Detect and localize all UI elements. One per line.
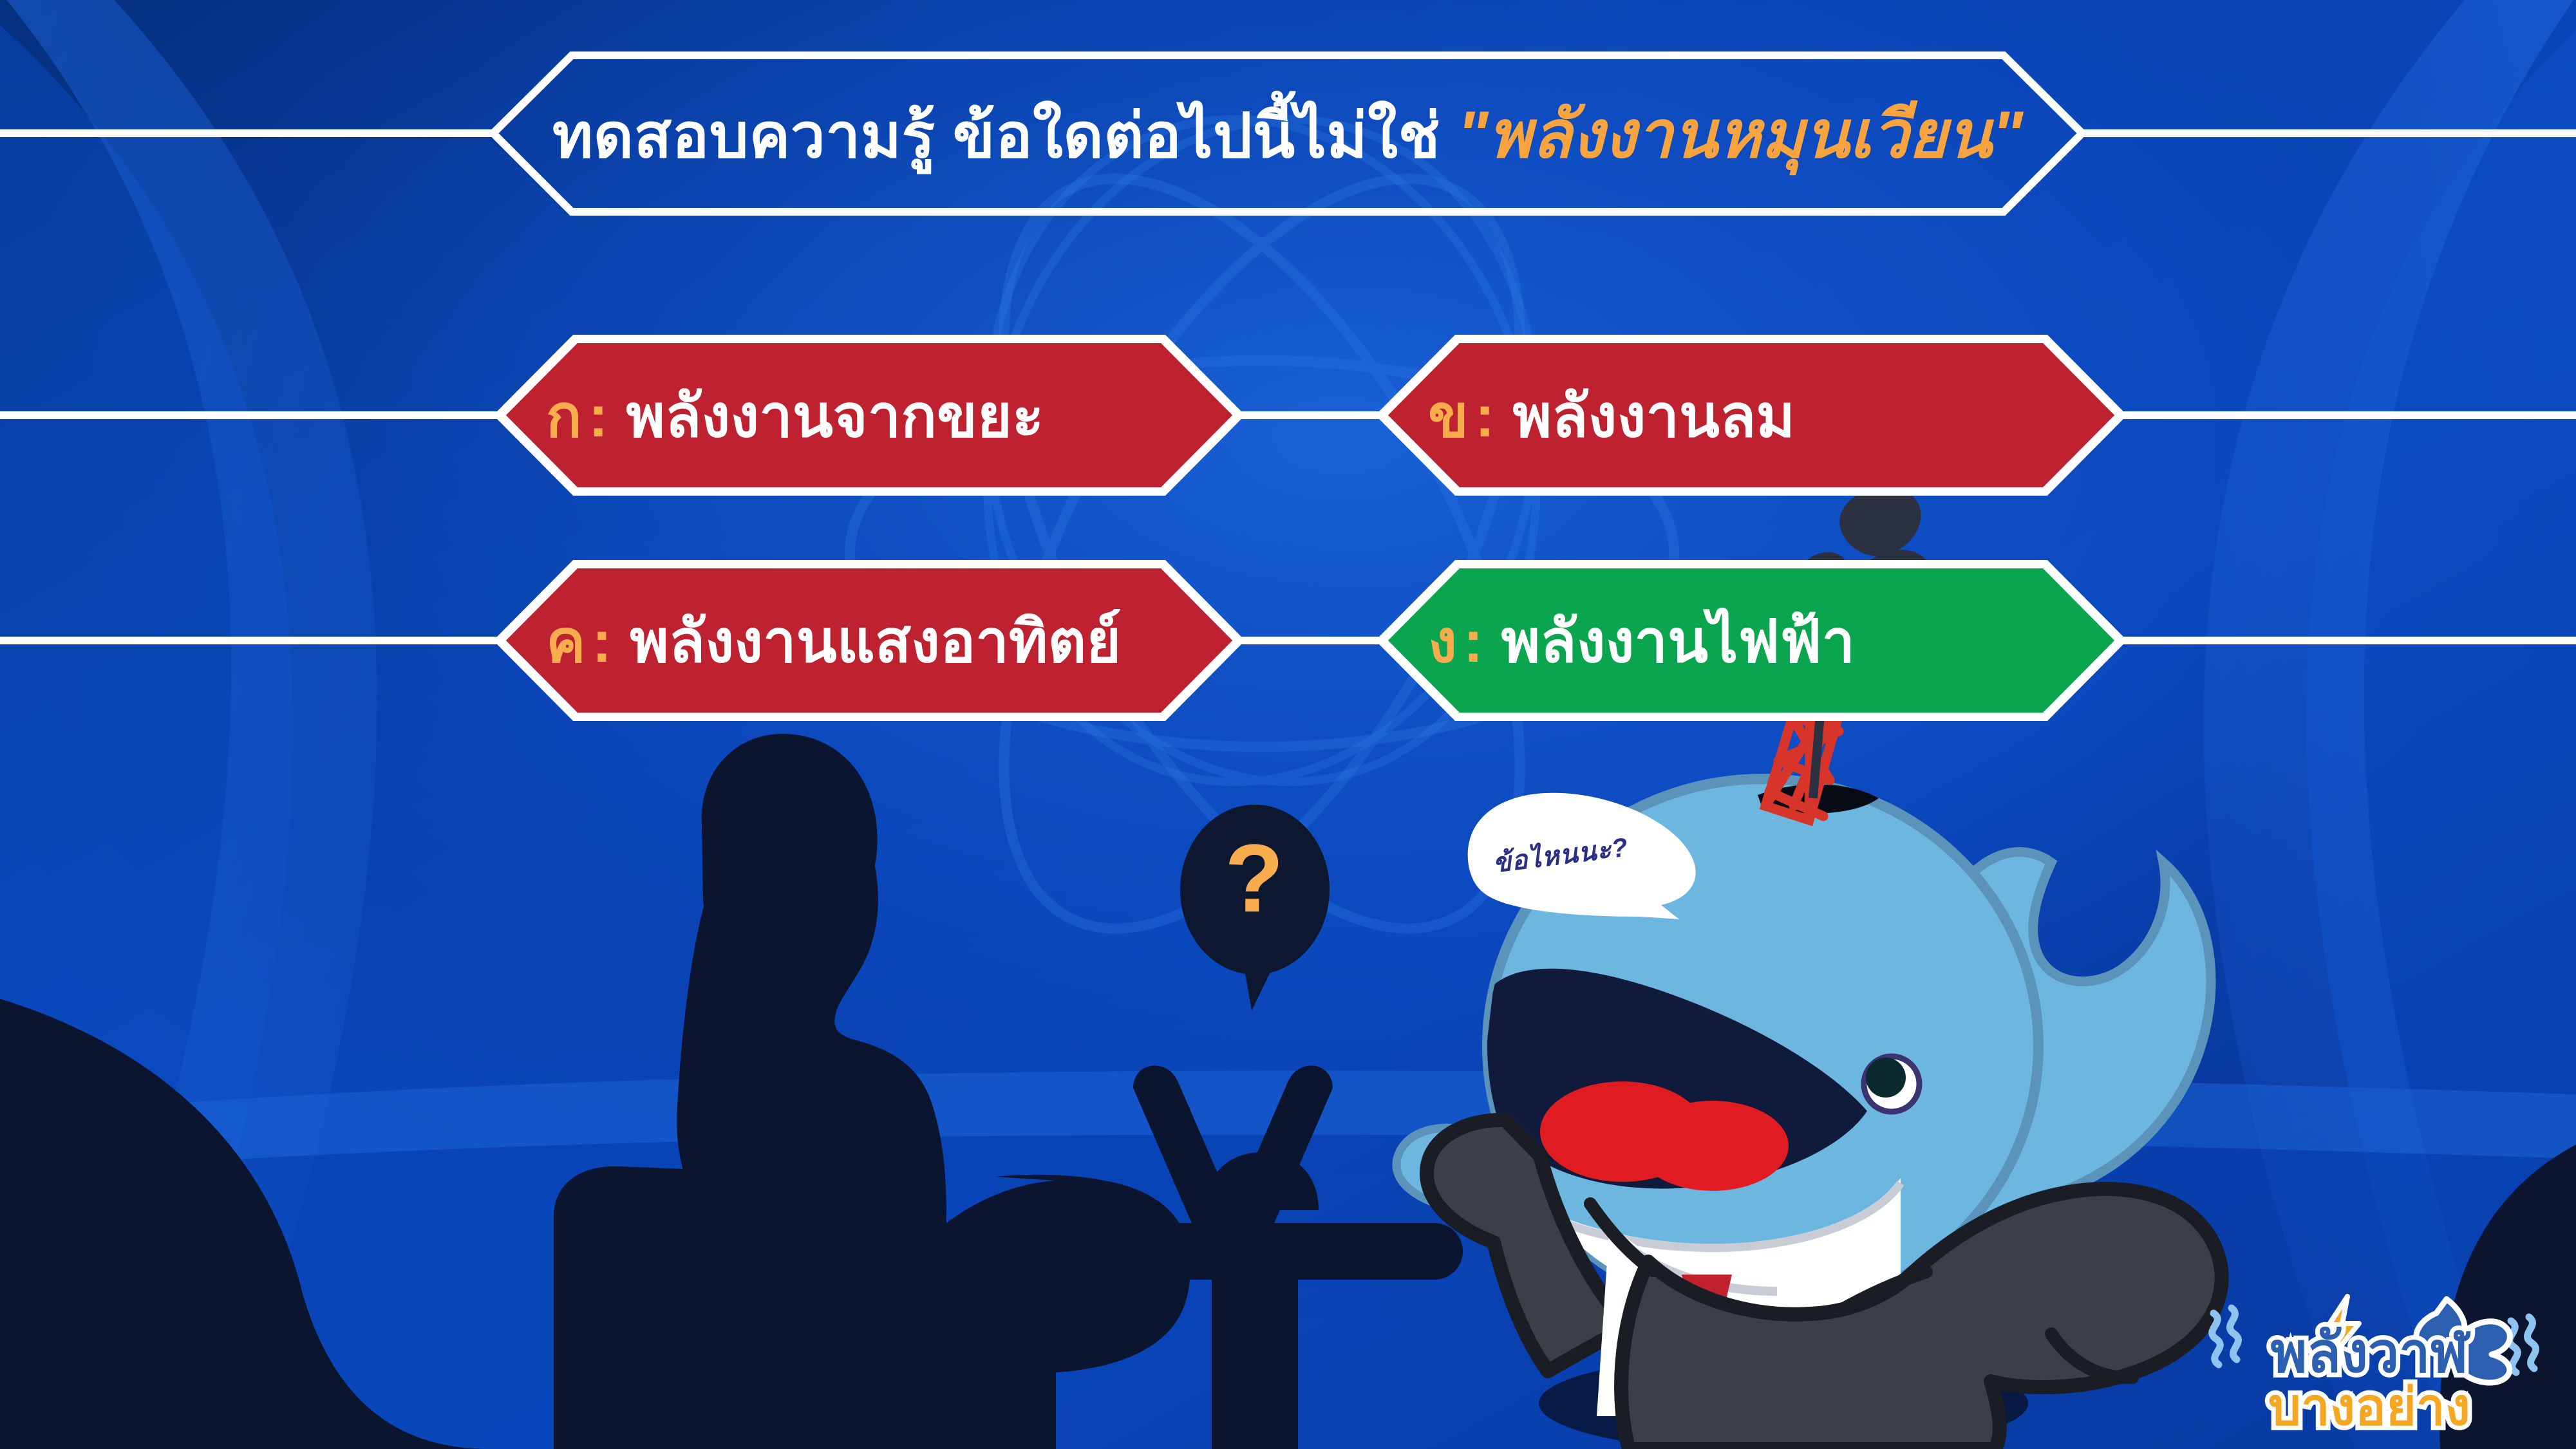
option-d-key: ง: [1428, 594, 1457, 688]
option-d-separator: :: [1463, 608, 1483, 676]
question-banner: ทดสอบความรู้ ข้อใดต่อไปนี้ไม่ใช่ "พลังงา…: [489, 51, 2086, 216]
option-c[interactable]: ค : พลังงานแสงอาทิตย์: [496, 560, 1243, 721]
slide-canvas: ?: [0, 0, 2576, 1449]
option-a-separator: :: [588, 383, 608, 451]
option-c-separator: :: [592, 608, 612, 676]
option-a[interactable]: ก : พลังงานจากขยะ: [496, 335, 1243, 496]
option-b-separator: :: [1475, 383, 1495, 451]
option-d[interactable]: ง : พลังงานไฟฟ้า: [1378, 560, 2125, 721]
banner-connector-lines: [0, 0, 2576, 1449]
option-c-label: พลังงานแสงอาทิตย์: [630, 594, 1121, 688]
brand-logo: พลังวาฬ บางอย่าง: [2189, 1294, 2550, 1432]
option-b-label: พลังงานลม: [1513, 368, 1795, 463]
option-a-label: พลังงานจากขยะ: [626, 368, 1044, 463]
option-c-key: ค: [546, 594, 586, 688]
option-b[interactable]: ข : พลังงานลม: [1378, 335, 2125, 496]
option-a-key: ก: [546, 368, 582, 463]
option-b-key: ข: [1428, 368, 1469, 463]
logo-line2: บางอย่าง: [2189, 1366, 2550, 1448]
question-text: ทดสอบความรู้ ข้อใดต่อไปนี้ไม่ใช่: [552, 87, 1440, 185]
question-highlight: "พลังงานหมุนเวียน": [1457, 82, 2023, 186]
option-d-label: พลังงานไฟฟ้า: [1501, 594, 1856, 688]
